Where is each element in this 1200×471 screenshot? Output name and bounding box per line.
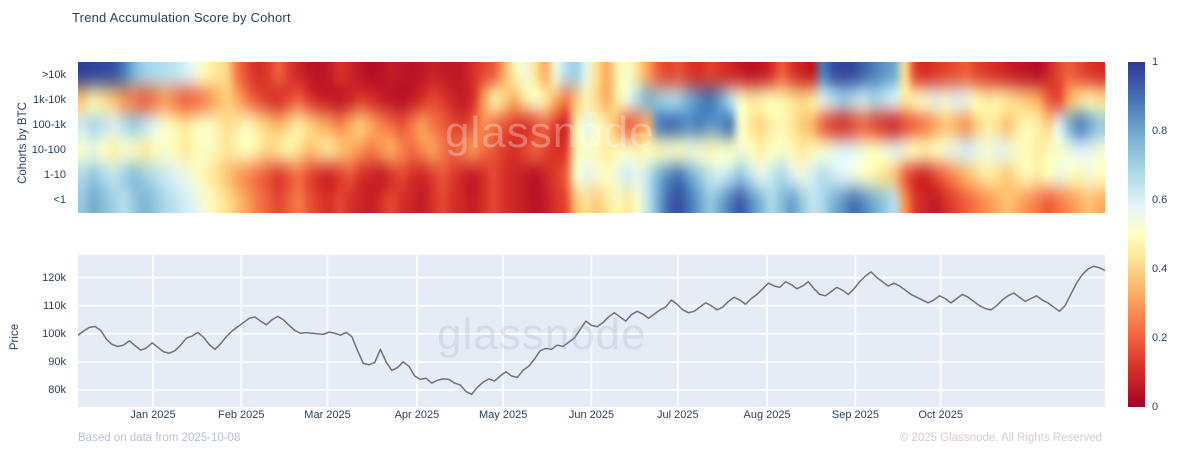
colorbar-tick-0: 0	[1152, 401, 1158, 413]
colorbar-tick-3: 0.6	[1152, 194, 1167, 206]
heatmap-y-axis-title: Cohorts by BTC	[17, 78, 29, 208]
chart-root: Trend Accumulation Score by Cohort >10k1…	[0, 0, 1200, 471]
price-line-svg[interactable]	[78, 255, 1105, 407]
colorbar-tick-5: 1	[1152, 56, 1158, 68]
heatmap-canvas[interactable]	[78, 62, 1105, 213]
x-axis-tick-2: Mar 2025	[304, 409, 350, 421]
page-title: Trend Accumulation Score by Cohort	[72, 10, 291, 25]
x-axis-tick-9: Oct 2025	[918, 409, 963, 421]
colorbar-gradient	[1128, 62, 1145, 407]
x-axis-tick-3: Apr 2025	[395, 409, 440, 421]
price-y-axis-title: Price	[9, 307, 21, 367]
colorbar-tick-4: 0.8	[1152, 125, 1167, 137]
x-axis-tick-0: Jan 2025	[130, 409, 175, 421]
price-plot-area[interactable]	[78, 255, 1105, 407]
x-axis-tick-4: May 2025	[479, 409, 527, 421]
price-y-tick-1: 90k	[48, 356, 66, 368]
price-y-tick-2: 100k	[42, 328, 66, 340]
heatmap-row-label-3: 10-100	[32, 144, 66, 156]
price-y-tick-0: 80k	[48, 384, 66, 396]
x-axis-tick-5: Jun 2025	[569, 409, 614, 421]
heatmap-row-label-2: 100-1k	[32, 119, 66, 131]
heatmap-row-label-5: <1	[53, 194, 66, 206]
footer-copyright: © 2025 Glassnode. All Rights Reserved	[900, 432, 1102, 444]
x-axis-tick-8: Sep 2025	[832, 409, 879, 421]
heatmap-plot-area[interactable]	[78, 62, 1105, 213]
colorbar: 00.20.40.60.81	[1128, 62, 1188, 407]
footer-data-date: Based on data from 2025-10-08	[78, 432, 240, 444]
price-y-tick-3: 110k	[43, 300, 66, 312]
heatmap-row-label-0: >10k	[42, 69, 66, 81]
heatmap-row-label-4: 1-10	[44, 169, 66, 181]
x-axis-tick-1: Feb 2025	[218, 409, 264, 421]
x-axis-tick-6: Jul 2025	[657, 409, 699, 421]
x-axis-tick-7: Aug 2025	[744, 409, 791, 421]
x-axis-labels: Jan 2025Feb 2025Mar 2025Apr 2025May 2025…	[78, 409, 1105, 427]
colorbar-tick-2: 0.4	[1152, 263, 1167, 275]
price-y-tick-4: 120k	[42, 272, 66, 284]
heatmap-row-label-1: 1k-10k	[33, 94, 66, 106]
heatmap-y-axis: >10k1k-10k100-1k10-1001-10<1	[0, 62, 72, 213]
colorbar-tick-1: 0.2	[1152, 332, 1167, 344]
